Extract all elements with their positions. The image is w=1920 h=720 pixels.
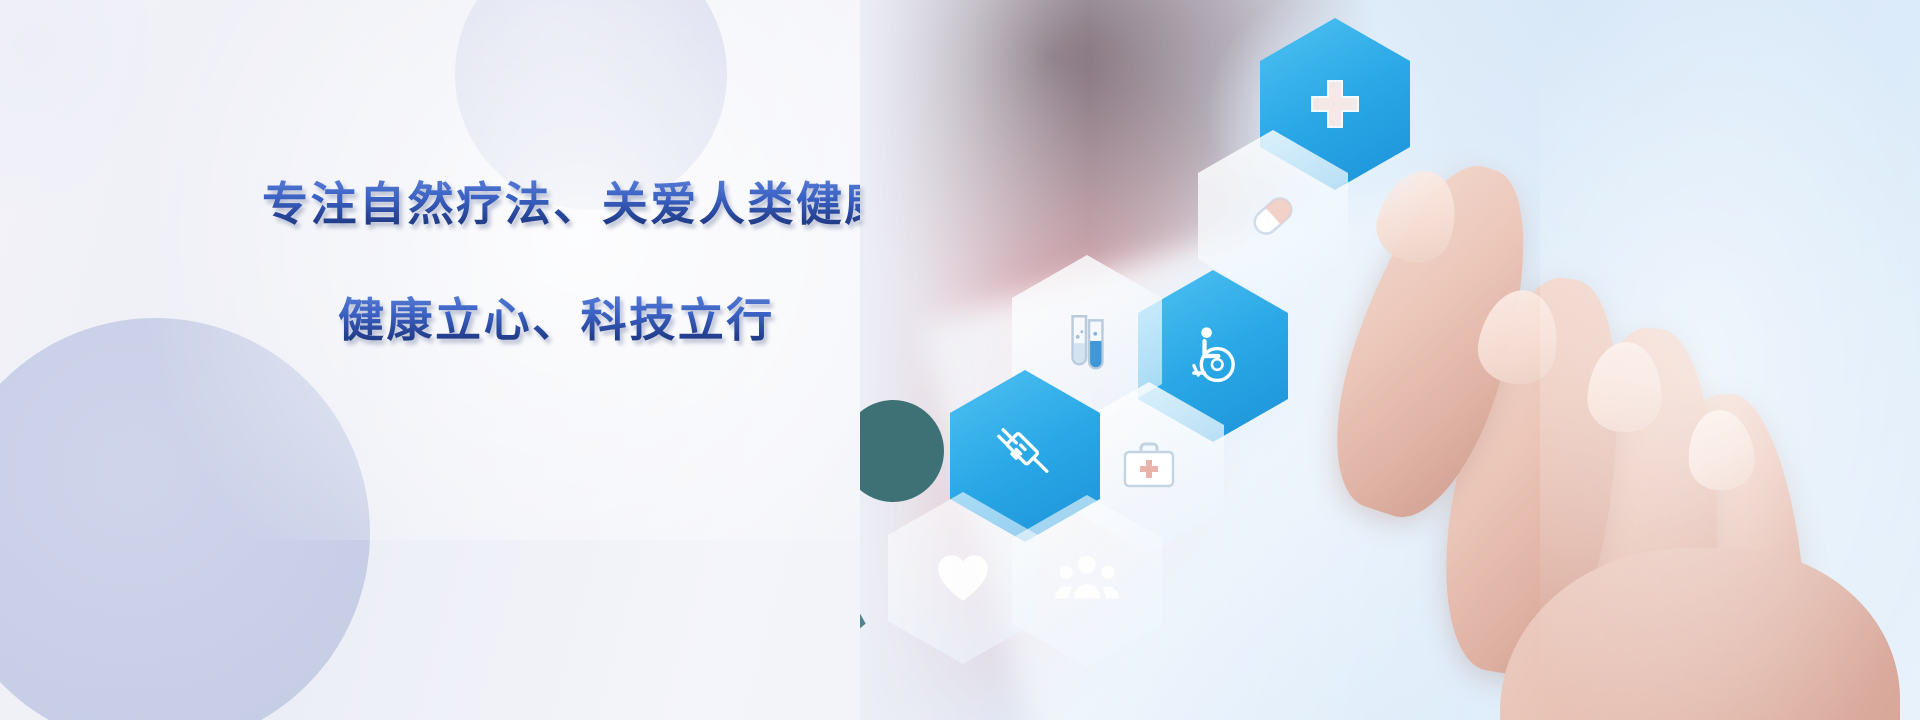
people-group-icon: [1052, 546, 1122, 616]
hexagon-icon-hud: [860, 0, 1920, 720]
headline-block: 专注自然疗法、关爱人类健康 健康立心、科技立行: [0, 176, 860, 348]
medical-briefcase-icon: [1117, 436, 1181, 500]
headline-line-1: 专注自然疗法、关爱人类健康: [262, 176, 860, 232]
syringe-icon: [990, 421, 1060, 491]
doctor-photo: [860, 0, 1920, 720]
pill-capsule-icon: [1240, 183, 1306, 249]
medical-cross-icon: [1303, 72, 1367, 136]
headline-line-2: 健康立心、科技立行: [338, 292, 860, 348]
heart-icon: [930, 545, 996, 611]
periwinkle-circle-bottom: [0, 318, 370, 720]
wheelchair-icon: [1179, 322, 1247, 390]
test-tubes-icon: [1054, 308, 1120, 374]
hero-banner: 专注自然疗法、关爱人类健康 健康立心、科技立行: [0, 0, 1920, 720]
